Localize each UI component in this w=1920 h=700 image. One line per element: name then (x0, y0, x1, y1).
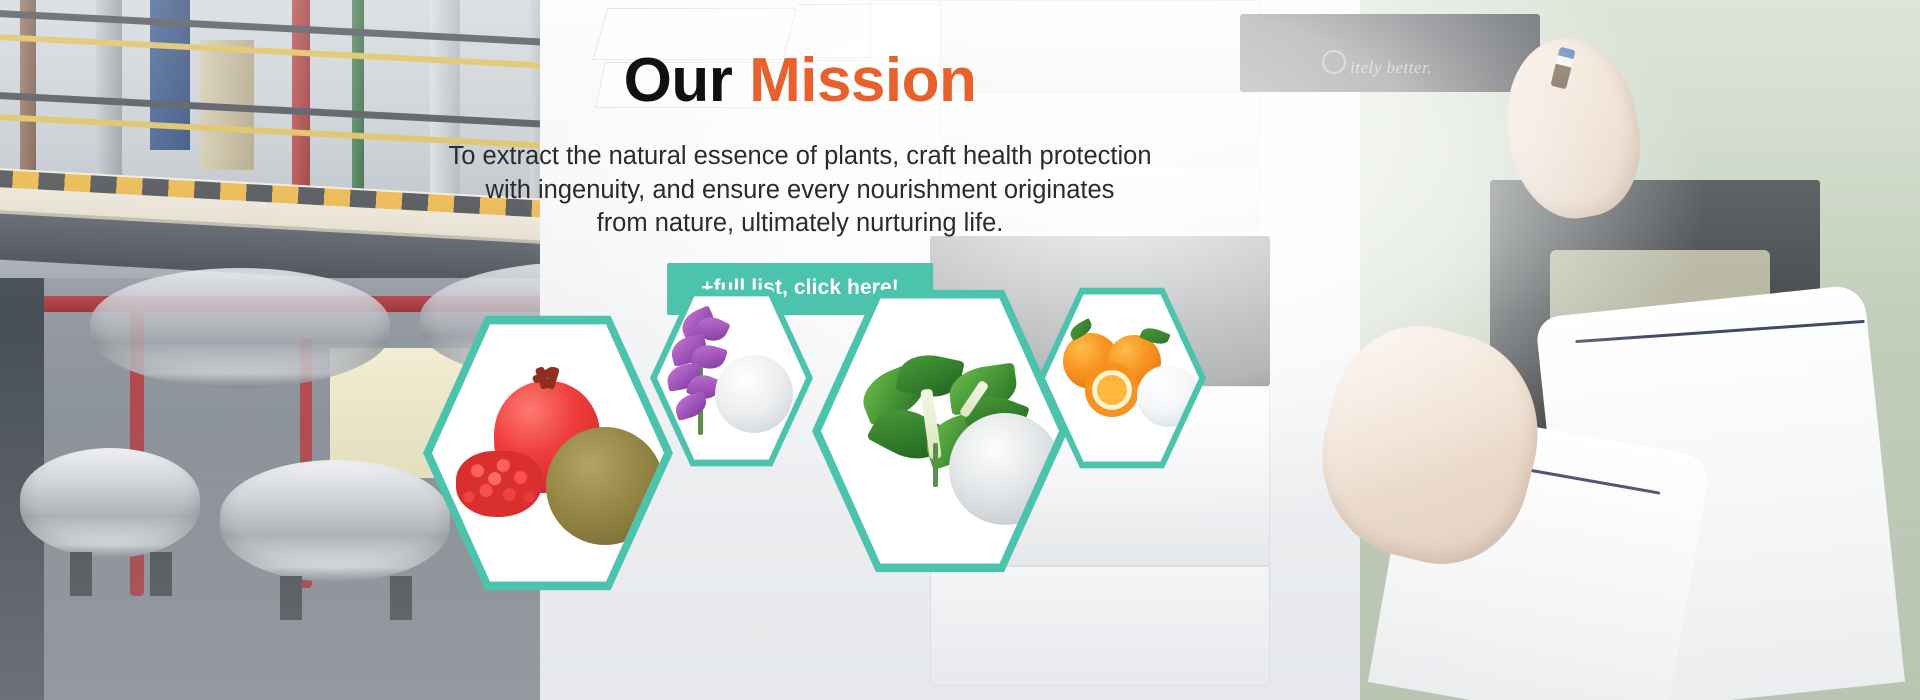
pomegranate-arils-icon (456, 451, 542, 517)
product-image-clary-sage (657, 293, 806, 463)
title-word-mission: Mission (749, 46, 976, 115)
mission-description: To extract the natural essence of plants… (0, 140, 1600, 241)
page-title: Our Mission (0, 48, 1600, 113)
description-line-2: with ingenuity, and ensure every nourish… (0, 174, 1600, 208)
description-line-1: To extract the natural essence of plants… (0, 140, 1600, 174)
product-image-orange (1045, 291, 1199, 465)
description-line-3: from nature, ultimately nurturing life. (0, 207, 1600, 241)
product-image-pomegranate (432, 319, 664, 587)
title-word-our: Our (624, 46, 733, 115)
product-image-polygonum (821, 293, 1059, 569)
sage-petal-icon (673, 391, 710, 421)
clary-sage-powder-icon (715, 355, 793, 433)
knotweed-stem-icon (933, 443, 938, 487)
mission-banner: itely better. Our Mission To extract the… (0, 0, 1920, 700)
orange-half-slice-icon (1085, 363, 1139, 417)
